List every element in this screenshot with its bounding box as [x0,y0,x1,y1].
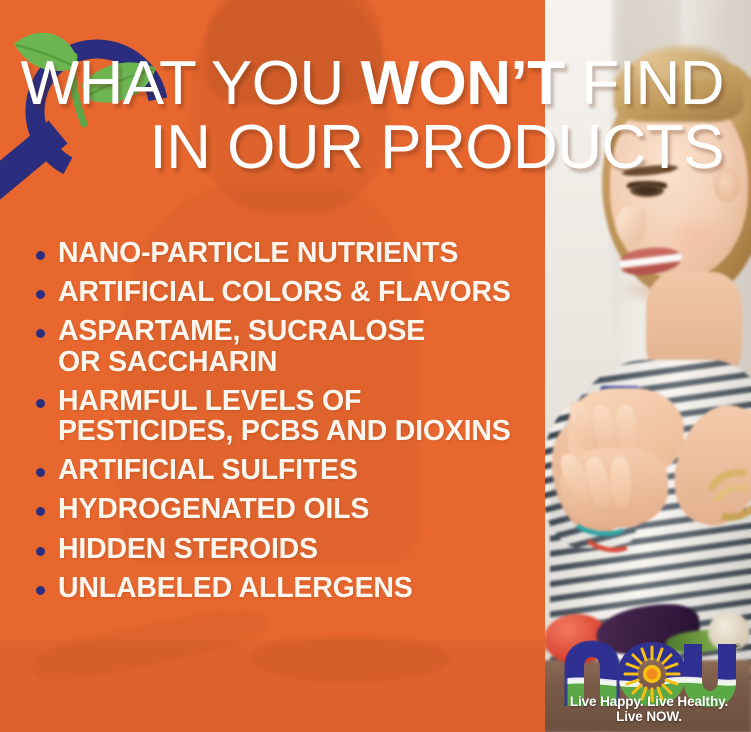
registered-trademark-mark: ® [734,642,741,652]
headline-text-wont: WON’T [361,49,565,118]
list-item-line-1: ARTIFICIAL SULFITES [58,454,358,486]
list-item-line-1: HIDDEN STEROIDS [58,533,318,565]
list-item: HYDROGENATED OILS [34,494,534,524]
headline-text-find: FIND [565,49,724,118]
list-item: ARTIFICIAL SULFITES [34,455,534,485]
sunburst-icon [625,647,679,701]
list-item: HARMFUL LEVELS OF PESTICIDES, PCBS AND D… [34,386,534,446]
list-item-line-1: HYDROGENATED OILS [58,493,369,525]
eye [630,184,664,197]
list-item-line-1: ASPARTAME, SUCRALOSE [58,315,425,347]
list-item-line-1: ARTIFICIAL COLORS & FLAVORS [58,276,511,308]
headline-text-what-you: WHAT YOU [21,49,361,118]
finger [609,456,632,509]
list-item: ASPARTAME, SUCRALOSE OR SACCHARIN [34,316,534,376]
list-item-line-2: PESTICIDES, PCBS AND DIOXINS [58,416,534,446]
list-item: UNLABELED ALLERGENS [34,573,534,603]
list-item-line-1: NANO-PARTICLE NUTRIENTS [58,237,458,269]
headline: WHAT YOU WON’T FIND IN OUR PRODUCTS [0,54,740,177]
poster-canvas: WHAT YOU WON’T FIND IN OUR PRODUCTS NANO… [0,0,751,732]
list-item: ARTIFICIAL COLORS & FLAVORS [34,277,534,307]
ghost-bowl [250,636,450,682]
excluded-ingredients-list: NANO-PARTICLE NUTRIENTS ARTIFICIAL COLOR… [34,238,534,612]
headline-line-1: WHAT YOU WON’T FIND [0,54,724,114]
list-item-line-1: UNLABELED ALLERGENS [58,572,413,604]
list-item: NANO-PARTICLE NUTRIENTS [34,238,534,268]
nose [616,206,646,244]
brand-tagline: Live Happy. Live Healthy. Live NOW. [556,694,742,724]
list-item-line-1: HARMFUL LEVELS OF [58,385,361,417]
list-item: HIDDEN STEROIDS [34,534,534,564]
headline-line-2: IN OUR PRODUCTS [0,118,724,178]
list-item-line-2: OR SACCHARIN [58,347,534,377]
